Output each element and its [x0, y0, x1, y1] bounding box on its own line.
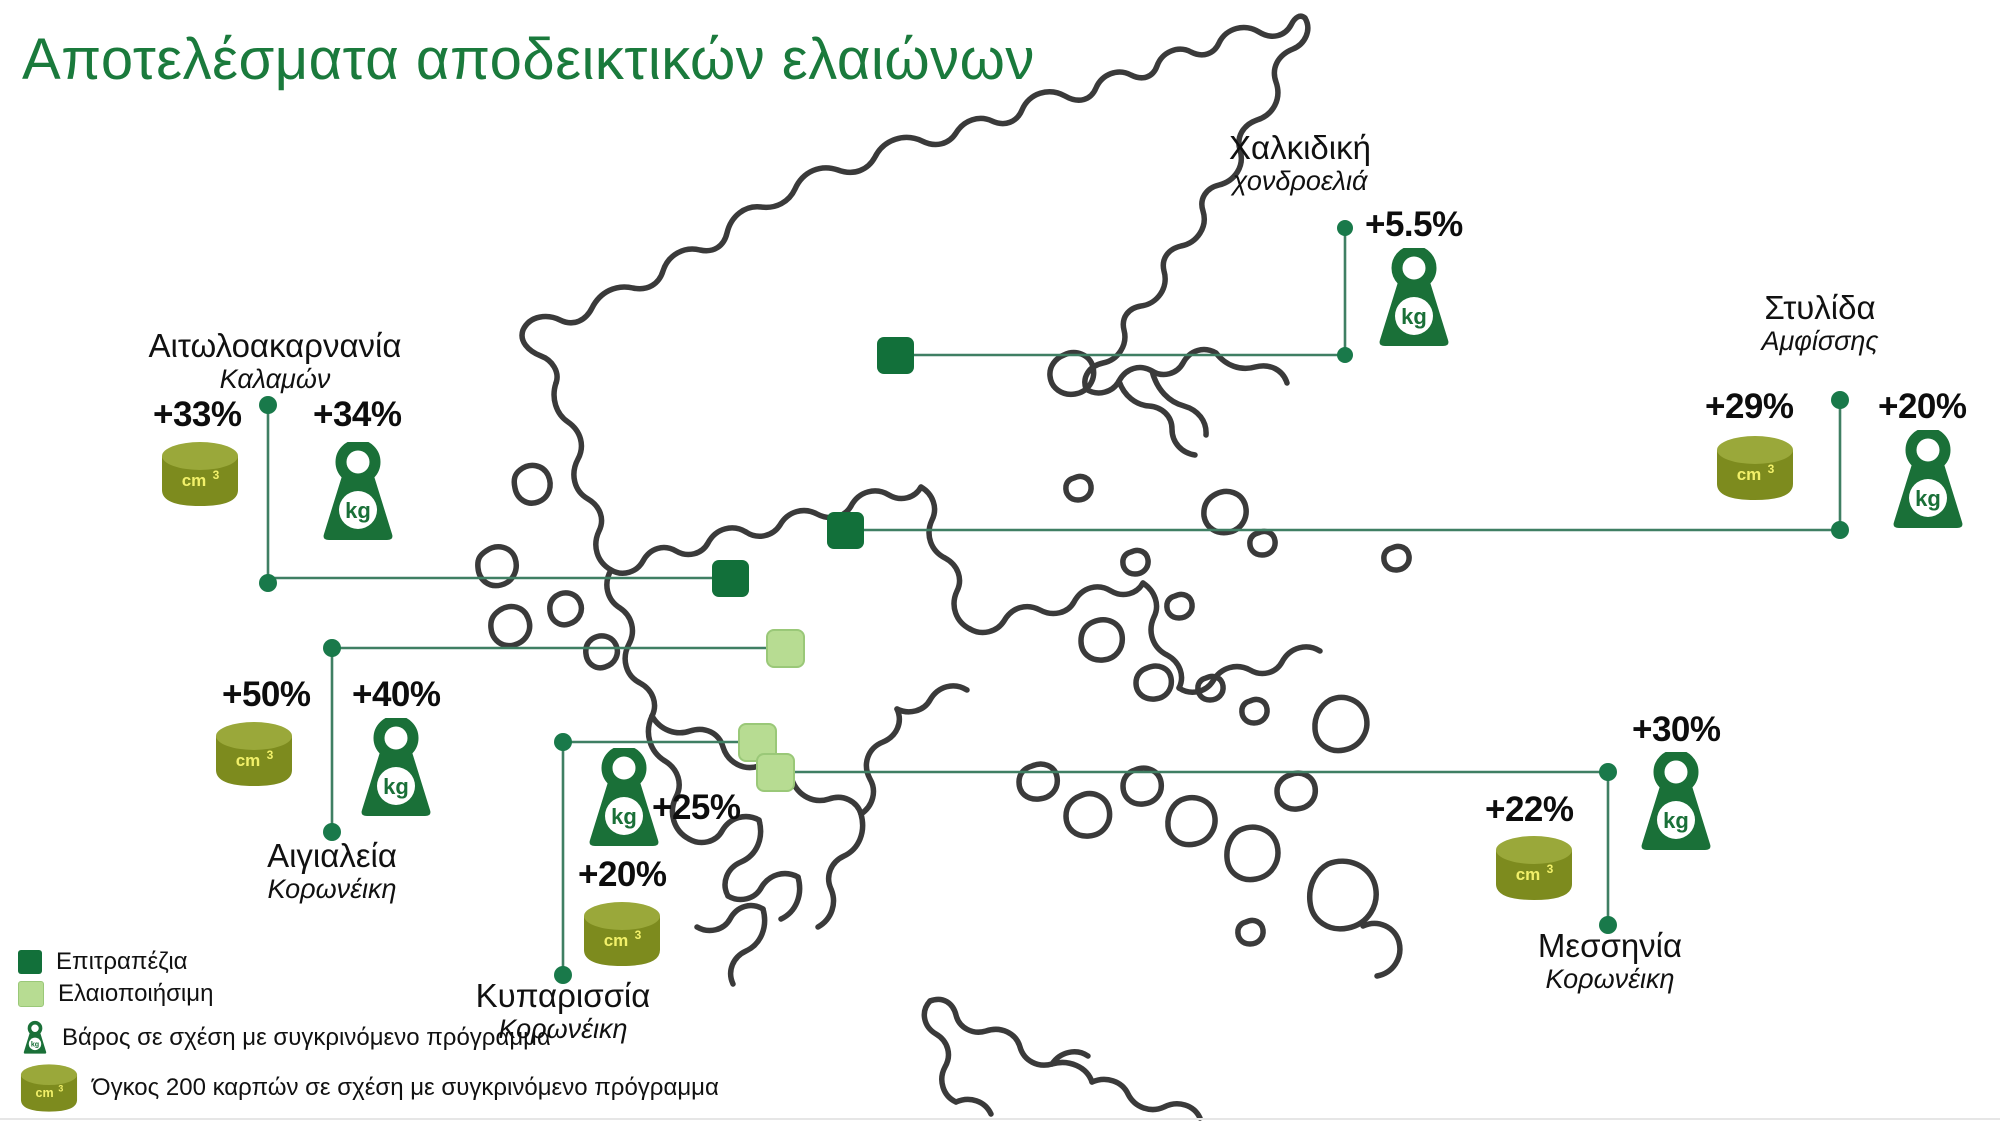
region-label-aigialeia: Αιγιαλεία Κορωνέικη	[182, 838, 482, 904]
volume-cylinder-icon: cm 3	[18, 1060, 80, 1116]
weight-icon: kg	[312, 442, 404, 542]
weight-icon: kg	[1368, 248, 1460, 348]
pct-aitoloakarnania-volume: +33%	[153, 395, 242, 435]
region-variety: Καλαμών	[115, 364, 435, 394]
map-markers[interactable]	[712, 337, 914, 791]
volume-unit-label: cm	[1516, 865, 1541, 884]
region-label-messinia: Μεσσηνία Κορωνέικη	[1460, 928, 1760, 994]
marker-chalkidiki[interactable]	[877, 337, 914, 374]
volume-cylinder-icon: cm 3	[1713, 432, 1797, 504]
region-variety: Αμφίσσης	[1660, 326, 1980, 356]
legend-swatch-table-icon	[18, 950, 42, 974]
legend-item-weight: kg Βάρος σε σχέση με συγκρινόμενο πρόγρα…	[18, 1018, 719, 1058]
weight-unit-label: kg	[345, 498, 371, 523]
weight-unit-label: kg	[611, 804, 637, 829]
pct-messinia-volume: +22%	[1485, 790, 1574, 830]
region-label-chalkidiki: Χαλκιδική χονδροελιά	[1150, 130, 1450, 196]
pct-messinia-weight: +30%	[1632, 710, 1721, 750]
region-label-stylida: Στυλίδα Αμφίσσης	[1660, 290, 1980, 356]
marker-aitoloakarnania[interactable]	[712, 560, 749, 597]
region-label-aitoloakarnania: Αιτωλοακαρνανία Καλαμών	[115, 328, 435, 394]
infographic-canvas: Αποτελέσματα αποδεικτικών ελαιώνων	[0, 0, 2000, 1127]
volume-cylinder-icon: cm 3	[158, 438, 242, 510]
marker-aigialeia[interactable]	[767, 630, 804, 667]
connector-stylida	[845, 400, 1840, 530]
legend-item-volume: cm 3 Όγκος 200 καρπών σε σχέση με συγκρι…	[18, 1060, 719, 1116]
volume-cylinder-icon: cm 3	[212, 718, 296, 790]
connector-lines	[268, 228, 1840, 975]
volume-exponent-label: 3	[58, 1084, 63, 1094]
pct-kyparissia-weight: +25%	[652, 788, 741, 828]
weight-icon: kg	[350, 718, 442, 818]
region-name: Αιτωλοακαρνανία	[115, 328, 435, 364]
bottom-divider	[0, 1118, 2000, 1120]
connector-chalkidiki	[895, 228, 1345, 355]
volume-cylinder-icon: cm 3	[1492, 832, 1576, 904]
weight-icon: kg	[18, 1018, 52, 1058]
weight-icon: kg	[1630, 752, 1722, 852]
legend-label: Επιτραπέζια	[56, 948, 188, 976]
region-name: Χαλκιδική	[1150, 130, 1450, 166]
pct-aigialeia-weight: +40%	[352, 675, 441, 715]
legend: Επιτραπέζια Ελαιοποιήσιμη kg Βάρος σε σχ…	[18, 948, 719, 1116]
legend-label: Βάρος σε σχέση με συγκρινόμενο πρόγραμμα	[62, 1024, 551, 1052]
volume-exponent-label: 3	[1768, 462, 1775, 476]
weight-unit-label: kg	[1915, 486, 1941, 511]
marker-stylida[interactable]	[827, 512, 864, 549]
region-variety: χονδροελιά	[1150, 166, 1450, 196]
weight-unit-label: kg	[31, 1040, 39, 1048]
region-name: Αιγιαλεία	[182, 838, 482, 874]
region-name: Στυλίδα	[1660, 290, 1980, 326]
legend-label: Όγκος 200 καρπών σε σχέση με συγκρινόμεν…	[92, 1074, 719, 1102]
marker-messinia[interactable]	[757, 754, 794, 791]
pct-aigialeia-volume: +50%	[222, 675, 311, 715]
volume-exponent-label: 3	[635, 928, 642, 942]
pct-stylida-volume: +29%	[1705, 387, 1794, 427]
volume-unit-label: cm	[36, 1086, 54, 1100]
legend-swatch-oil-icon	[18, 981, 44, 1007]
volume-exponent-label: 3	[213, 468, 220, 482]
region-variety: Κορωνέικη	[1460, 964, 1760, 994]
weight-unit-label: kg	[383, 774, 409, 799]
pct-chalkidiki-weight: +5.5%	[1365, 205, 1463, 245]
volume-unit-label: cm	[182, 471, 207, 490]
weight-unit-label: kg	[1401, 304, 1427, 329]
region-variety: Κορωνέικη	[182, 874, 482, 904]
region-name: Μεσσηνία	[1460, 928, 1760, 964]
legend-item-table-olives: Επιτραπέζια	[18, 948, 719, 976]
legend-item-oil-olives: Ελαιοποιήσιμη	[18, 980, 719, 1008]
weight-unit-label: kg	[1663, 808, 1689, 833]
volume-unit-label: cm	[236, 751, 261, 770]
pct-stylida-weight: +20%	[1878, 387, 1967, 427]
legend-label: Ελαιοποιήσιμη	[58, 980, 213, 1008]
connector-dots	[259, 220, 1849, 984]
weight-icon: kg	[1882, 430, 1974, 530]
volume-exponent-label: 3	[267, 748, 274, 762]
pct-aitoloakarnania-weight: +34%	[313, 395, 402, 435]
volume-exponent-label: 3	[1547, 862, 1554, 876]
volume-unit-label: cm	[1737, 465, 1762, 484]
pct-kyparissia-volume: +20%	[578, 855, 667, 895]
